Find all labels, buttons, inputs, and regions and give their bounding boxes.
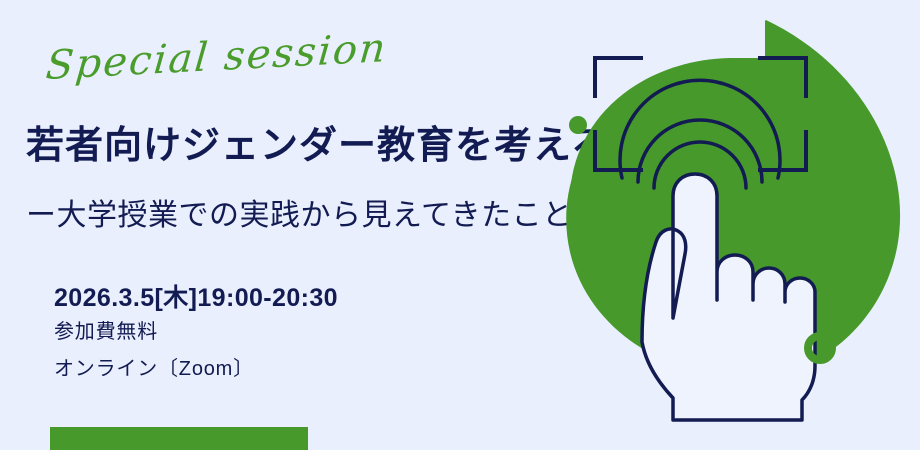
green-dot <box>569 116 587 134</box>
footer-accent-bar <box>50 427 308 450</box>
tap-gesture-illustration <box>530 0 920 450</box>
event-fee: 参加費無料 <box>54 314 338 351</box>
event-venue: オンライン〔Zoom〕 <box>54 351 338 388</box>
seminar-banner: Special session 若者向けジェンダー教育を考える ー大学授業での実… <box>0 0 920 450</box>
event-date-time: 2026.3.5[木]19:00-20:30 <box>54 283 338 314</box>
event-details: 2026.3.5[木]19:00-20:30 参加費無料 オンライン〔Zoom〕 <box>54 283 338 388</box>
page-subtitle: ー大学授業での実践から見えてきたこと <box>26 190 573 234</box>
eyebrow-label: Special session <box>44 28 389 86</box>
page-title-text: 若者向けジェンダー教育を考える <box>26 126 610 168</box>
